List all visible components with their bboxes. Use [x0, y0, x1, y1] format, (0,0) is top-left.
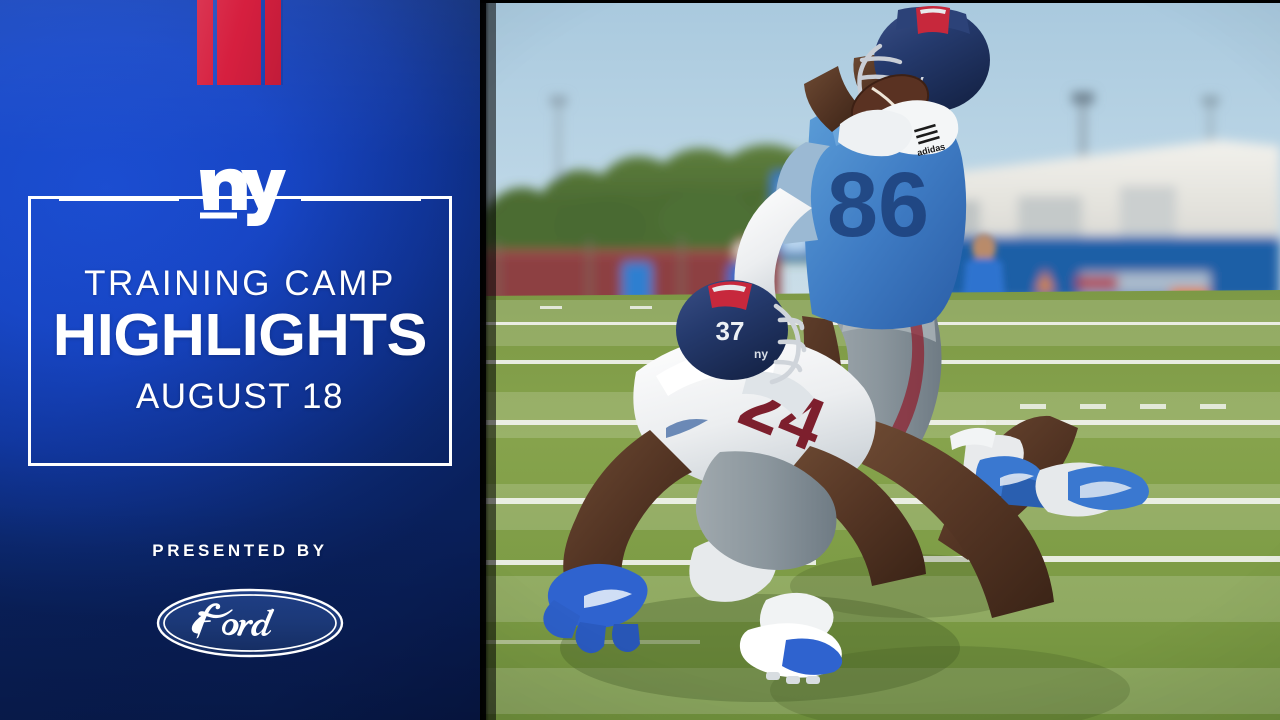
title-block: TRAINING CAMP HIGHLIGHTS AUGUST 18 [28, 196, 452, 466]
presented-by-label: PRESENTED BY [0, 541, 480, 561]
title-panel: TRAINING CAMP HIGHLIGHTS AUGUST 18 PRESE… [0, 0, 480, 720]
video-thumbnail: TRAINING CAMP HIGHLIGHTS AUGUST 18 PRESE… [0, 0, 1280, 720]
red-stripe-group [197, 0, 283, 85]
svg-text:37: 37 [716, 316, 745, 346]
red-stripe-3 [265, 0, 281, 85]
date-text: AUGUST 18 [136, 378, 344, 415]
headline-text: HIGHLIGHTS [53, 305, 427, 365]
svg-text:ny: ny [754, 347, 768, 361]
ford-oval-logo-icon [156, 588, 344, 658]
svg-text:86: 86 [827, 154, 929, 256]
red-stripe-2 [217, 0, 261, 85]
eyebrow-text: TRAINING CAMP [84, 265, 396, 302]
red-stripe-1 [197, 0, 213, 85]
training-camp-photo: Giants [480, 0, 1280, 720]
